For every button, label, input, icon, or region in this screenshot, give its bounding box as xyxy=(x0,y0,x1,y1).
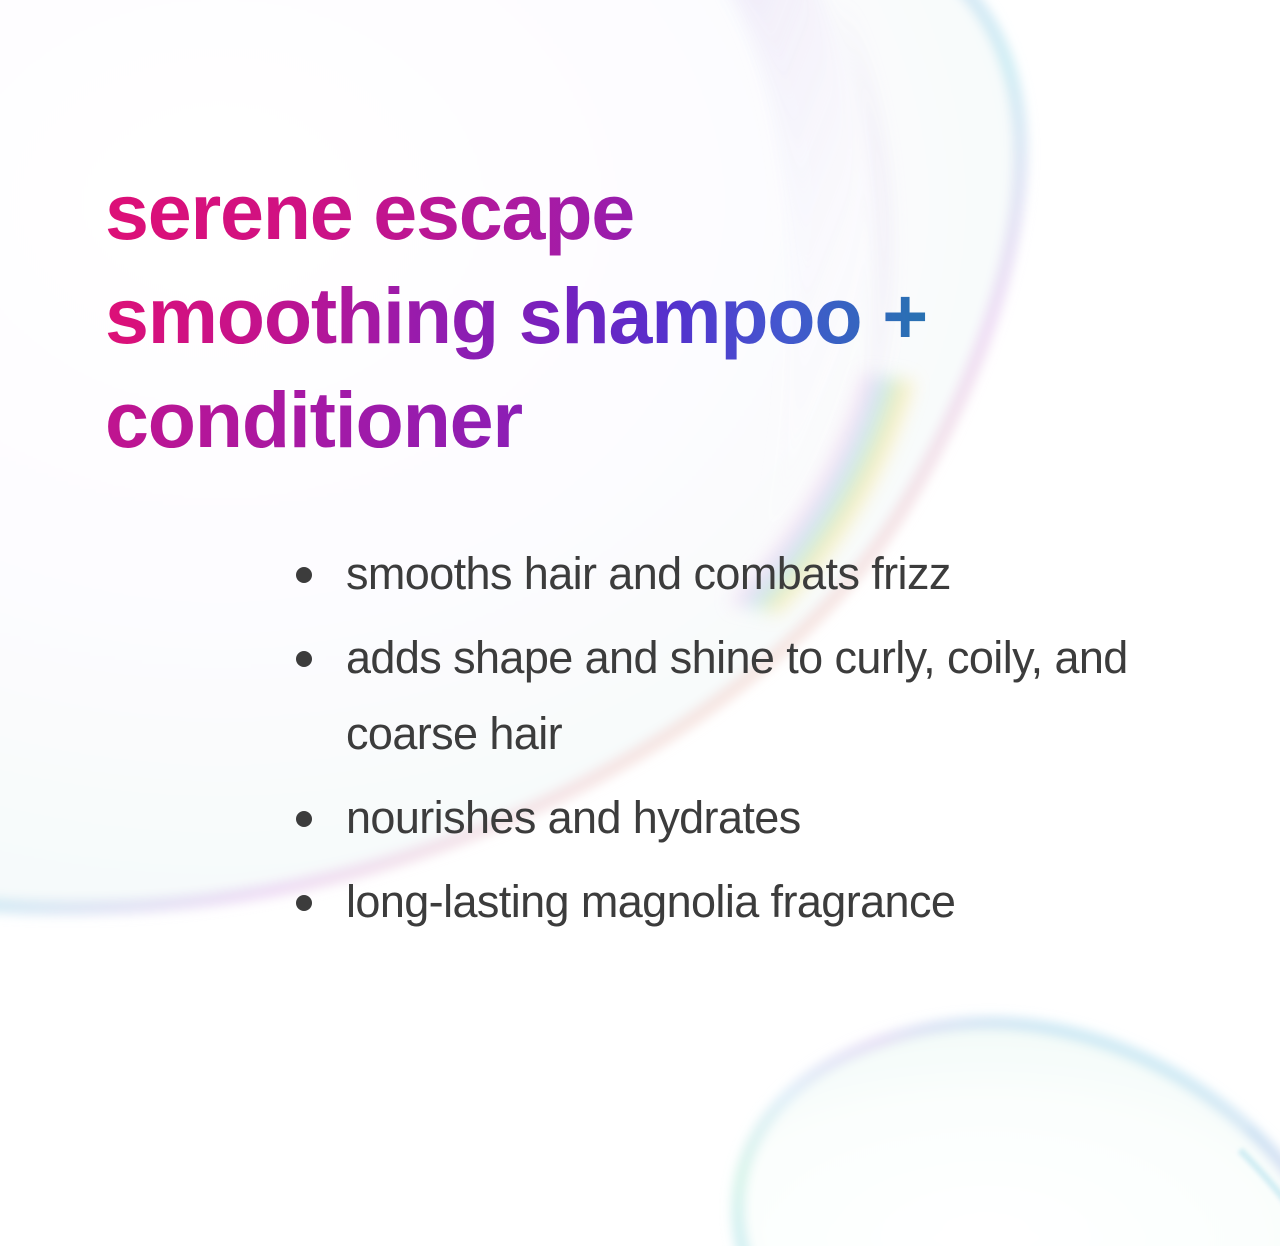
product-benefits-panel: serene escape smoothing shampoo + condit… xyxy=(0,0,1280,1246)
bullet-dot-icon xyxy=(296,651,312,667)
product-title: serene escape smoothing shampoo + condit… xyxy=(105,160,1195,472)
benefit-text: long-lasting magnolia fragrance xyxy=(346,864,1228,940)
bubble-bottom-right xyxy=(737,1022,1280,1246)
bullet-dot-icon xyxy=(296,895,312,911)
product-title-line-3: conditioner xyxy=(105,368,1195,472)
list-item: adds shape and shine to curly, coily, an… xyxy=(288,620,1228,772)
benefits-list: smooths hair and combats frizz adds shap… xyxy=(288,536,1228,948)
list-item: smooths hair and combats frizz xyxy=(288,536,1228,612)
bullet-dot-icon xyxy=(296,567,312,583)
bubble-secondary-arc xyxy=(1240,1150,1280,1246)
benefit-text: nourishes and hydrates xyxy=(346,780,1228,856)
product-title-line-1: serene escape xyxy=(105,160,1195,264)
product-title-line-2: smoothing shampoo + xyxy=(105,264,1195,368)
benefit-text: smooths hair and combats frizz xyxy=(346,536,1228,612)
bullet-dot-icon xyxy=(296,811,312,827)
list-item: long-lasting magnolia fragrance xyxy=(288,864,1228,940)
list-item: nourishes and hydrates xyxy=(288,780,1228,856)
benefit-text: adds shape and shine to curly, coily, an… xyxy=(346,620,1228,772)
